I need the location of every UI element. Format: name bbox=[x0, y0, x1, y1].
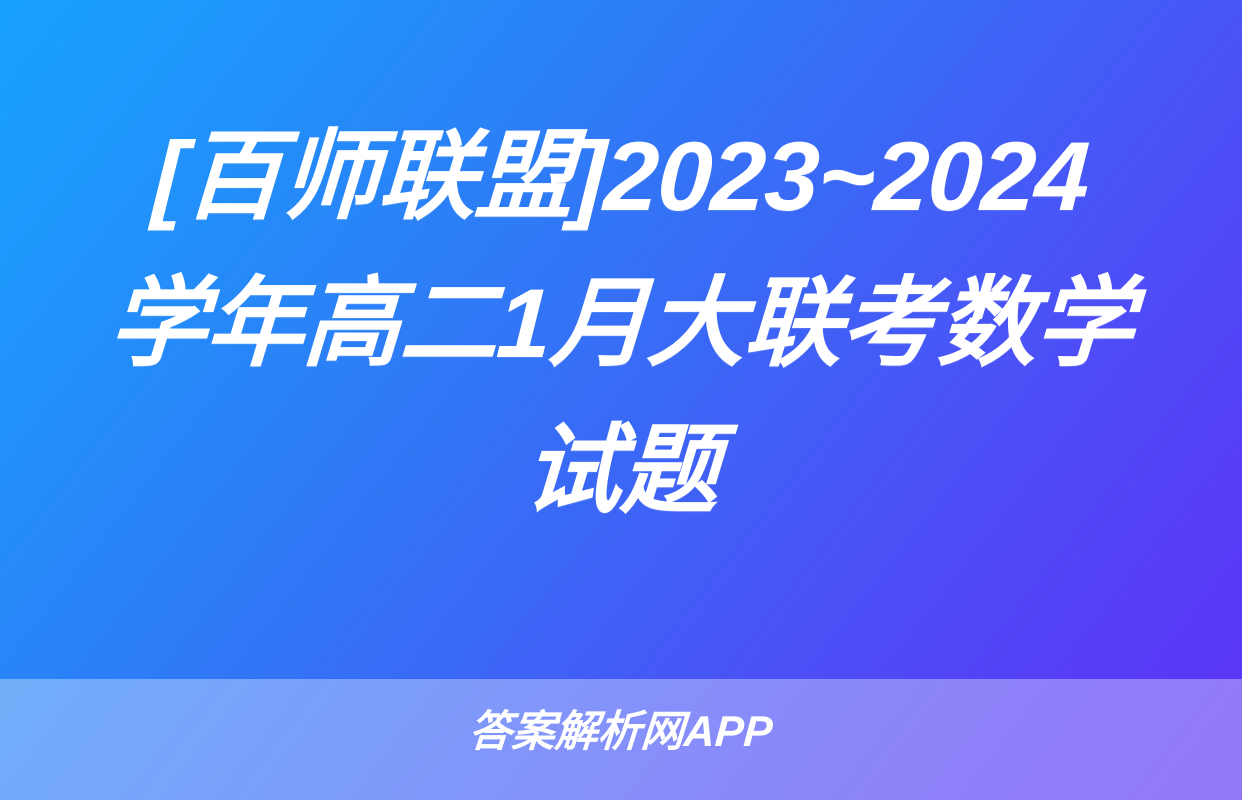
app-brand-label: 答案解析网APP bbox=[468, 711, 774, 754]
exam-title-card: [百师联盟]2023~2024 学年高二1月大联考数学 试题 答案解析网APP bbox=[0, 0, 1242, 800]
footer-band: 答案解析网APP bbox=[0, 679, 1242, 800]
title-line-2: 学年高二1月大联考数学 bbox=[105, 250, 1136, 397]
title-line-3: 试题 bbox=[520, 397, 722, 544]
title-line-1: [百师联盟]2023~2024 bbox=[149, 103, 1092, 250]
title-block: [百师联盟]2023~2024 学年高二1月大联考数学 试题 bbox=[0, 0, 1242, 679]
